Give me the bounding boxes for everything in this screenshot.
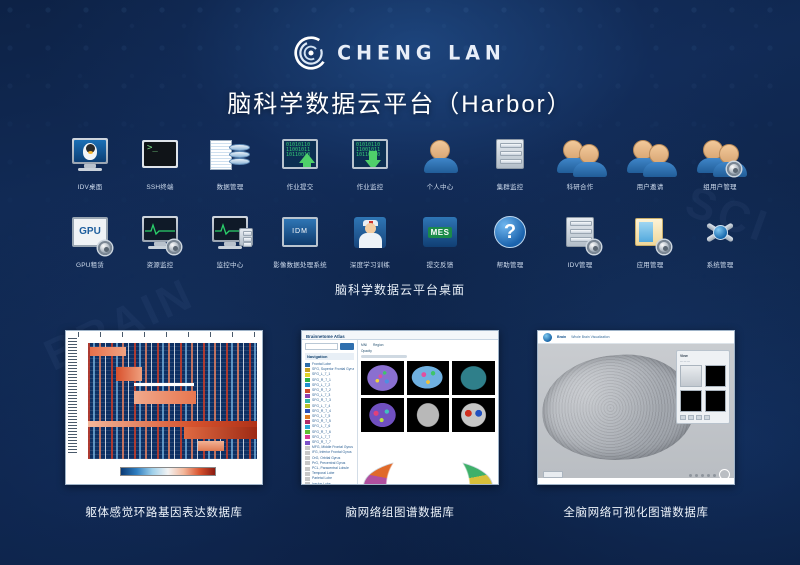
panel-caption: 全脑网络可视化图谱数据库	[537, 504, 735, 520]
desktop-icon-feedback[interactable]: MES 提交反馈	[405, 214, 475, 270]
desktop-icon-ssh-terminal[interactable]: >_ SSH终端	[125, 136, 195, 192]
atlas-app-title: Brainnetome Atlas	[302, 331, 498, 340]
icon-label: IDV管理	[568, 261, 593, 270]
server-gear-icon	[557, 214, 603, 256]
viewer-thumbnail-panel[interactable]: View — — —	[676, 350, 730, 424]
question-circle-icon: ?	[487, 214, 533, 256]
icon-label: 用户邀请	[637, 183, 664, 192]
panel-brainnetome-atlas[interactable]: Brainnetome Atlas Navigation Frontal Lob…	[301, 330, 499, 520]
tool-icon-3[interactable]	[696, 415, 702, 420]
desktop-icon-cluster-monitor[interactable]: 集群监控	[475, 136, 545, 192]
folder-gear-icon	[627, 214, 673, 256]
terminal-icon: >_	[137, 136, 183, 178]
viewer-panel-subrow: — — —	[680, 359, 726, 363]
spiral-c-logo-icon	[294, 36, 328, 70]
atlas-image-grid	[361, 361, 495, 432]
atlas-view-coronal[interactable]	[361, 361, 404, 395]
brand-logo: CHENG LAN	[0, 36, 800, 70]
tool-icon-4[interactable]	[704, 415, 710, 420]
panel-whole-brain-viewer[interactable]: Brain Whole Brain Visualization View — —…	[537, 330, 735, 520]
viewer-zoom-steps[interactable]	[689, 474, 716, 477]
desktop-icon-idv-desktop[interactable]: IDV桌面	[55, 136, 125, 192]
code-upload-icon: 010101101100101110110010	[277, 136, 323, 178]
icon-label: 科研合作	[567, 183, 594, 192]
viewer-footer	[538, 478, 734, 484]
icon-label: 提交反馈	[427, 261, 454, 270]
desktop-icon-system-management[interactable]: 系统管理	[685, 214, 755, 270]
icon-label: GPU租赁	[76, 261, 104, 270]
icon-row-1: IDV桌面 >_ SSH终端 数据管理 01010110110010111011…	[55, 136, 755, 192]
icon-label: 系统管理	[707, 261, 734, 270]
viewer-thumb-4[interactable]	[705, 390, 727, 412]
monitor-pulse-gear-icon	[137, 214, 183, 256]
atlas-region-tree[interactable]: Frontal Lobe SFG, Superior Frontal Gyrus…	[305, 362, 354, 485]
brand-name: CHENG LAN	[337, 41, 506, 64]
desktop-icon-app-management[interactable]: 应用管理	[615, 214, 685, 270]
icon-label: 帮助管理	[497, 261, 524, 270]
screenshot-atlas: Brainnetome Atlas Navigation Frontal Lob…	[301, 330, 499, 485]
database-panels: 躯体感觉环路基因表达数据库 Brainnetome Atlas Navigati…	[65, 330, 735, 520]
doctor-icon	[347, 214, 393, 256]
promo-page: BRAIN SCI CHENG LAN 脑科学数据云平台（Harbor） IDV…	[0, 0, 800, 565]
screenshot-viewer: Brain Whole Brain Visualization View — —…	[537, 330, 735, 485]
desktop-icon-personal-center[interactable]: 个人中心	[405, 136, 475, 192]
viewer-thumb-2[interactable]	[705, 365, 727, 387]
brain-slice-image	[539, 350, 698, 465]
page-title: 脑科学数据云平台（Harbor）	[0, 84, 800, 119]
icon-label: IDV桌面	[78, 183, 103, 192]
atlas-region-label: Region	[373, 343, 383, 347]
desktop-icon-grid: IDV桌面 >_ SSH终端 数据管理 01010110110010111011…	[55, 136, 755, 280]
atlas-opacity-slider[interactable]	[361, 355, 407, 358]
icon-label: 集群监控	[497, 183, 524, 192]
viewer-thumb-3[interactable]	[680, 390, 702, 412]
icon-label: 个人中心	[427, 183, 454, 192]
server-rack-icon	[487, 136, 533, 178]
monitor-linux-icon	[67, 136, 113, 178]
icon-label: 作业监控	[357, 183, 384, 192]
tool-icon-1[interactable]	[680, 415, 686, 420]
desktop-icon-idv-management[interactable]: IDV管理	[545, 214, 615, 270]
gpu-chip-icon: GPU	[67, 214, 113, 256]
atlas-main-view: MNI Region Opacity	[358, 340, 498, 484]
viewer-panel-title: View	[680, 354, 726, 358]
code-download-icon: 010101101100101110110010	[347, 136, 393, 178]
viewer-menu[interactable]: Whole Brain Visualization	[571, 335, 609, 339]
viewer-logo-icon	[543, 333, 552, 342]
atlas-view-anatomical-connectivity[interactable]	[452, 361, 495, 395]
panel-caption: 躯体感觉环路基因表达数据库	[65, 504, 263, 520]
atlas-view-axial[interactable]	[361, 398, 404, 432]
atlas-coord-label: MNI	[361, 343, 367, 347]
atlas-sidebar: Navigation Frontal Lobe SFG, Superior Fr…	[302, 340, 358, 484]
desktop-icon-data-management[interactable]: 数据管理	[195, 136, 265, 192]
viewer-toolbar: Brain Whole Brain Visualization	[538, 331, 734, 344]
tools-gear-icon	[697, 214, 743, 256]
atlas-view-sagittal[interactable]	[407, 361, 450, 395]
desktop-icon-monitor-center[interactable]: 监控中心	[195, 214, 265, 270]
panel-gene-expression[interactable]: 躯体感觉环路基因表达数据库	[65, 330, 263, 520]
atlas-view-grayscale[interactable]	[407, 398, 450, 432]
desktop-icon-gpu-rental[interactable]: GPU GPU租赁	[55, 214, 125, 270]
icon-label: 作业提交	[287, 183, 314, 192]
idm-box-icon: IDM	[277, 214, 323, 256]
screenshot-heatmap	[65, 330, 263, 485]
desktop-icon-job-submit[interactable]: 010101101100101110110010 作业提交	[265, 136, 335, 192]
icon-label: 深度学习训练	[350, 261, 390, 270]
icon-label: 组用户管理	[703, 183, 737, 192]
icon-label: SSH终端	[146, 183, 173, 192]
heatmap-colorbar	[120, 467, 216, 476]
atlas-opacity-label: Opacity	[361, 349, 495, 353]
desktop-icon-resource-monitor[interactable]: 资源监控	[125, 214, 195, 270]
tool-icon-2[interactable]	[688, 415, 694, 420]
icon-label: 影像数据处理系统	[273, 261, 327, 270]
desktop-icon-help-management[interactable]: ? 帮助管理	[475, 214, 545, 270]
icon-label: 应用管理	[637, 261, 664, 270]
icon-label: 资源监控	[147, 261, 174, 270]
icon-row-2: GPU GPU租赁 资源监控	[55, 214, 755, 270]
atlas-nav-title: Navigation	[305, 353, 354, 360]
desktop-caption: 脑科学数据云平台桌面	[0, 281, 800, 298]
desktop-icon-user-invite[interactable]: 用户邀请	[615, 136, 685, 192]
desktop-icon-group-user-management[interactable]: 组用户管理	[685, 136, 755, 192]
atlas-search-input[interactable]	[305, 343, 338, 350]
viewer-reset-button[interactable]	[543, 471, 563, 478]
desktop-icon-deep-learning[interactable]: 深度学习训练	[335, 214, 405, 270]
atlas-view-functional-connectivity[interactable]	[452, 398, 495, 432]
desktop-icon-imaging-system[interactable]: IDM 影像数据处理系统	[265, 214, 335, 270]
database-sheet-icon	[207, 136, 253, 178]
viewer-canvas[interactable]: View — — —	[538, 344, 734, 484]
list-item: Insular Lobe	[305, 482, 354, 485]
viewer-tool-buttons[interactable]	[680, 415, 726, 420]
icon-label: 数据管理	[217, 183, 244, 192]
users-group-icon	[627, 136, 673, 178]
user-avatar-icon	[417, 136, 463, 178]
icon-label: 监控中心	[217, 261, 244, 270]
desktop-icon-job-monitor[interactable]: 010101101100101110110010 作业监控	[335, 136, 405, 192]
desktop-icon-research-cooperation[interactable]: 科研合作	[545, 136, 615, 192]
two-users-icon	[557, 136, 603, 178]
viewer-brand: Brain	[557, 335, 566, 339]
atlas-search-button[interactable]	[340, 343, 354, 350]
monitor-pulse-server-icon	[207, 214, 253, 256]
panel-caption: 脑网络组图谱数据库	[301, 504, 499, 520]
viewer-thumb-1[interactable]	[680, 365, 702, 387]
users-gear-icon	[697, 136, 743, 178]
mes-icon: MES	[417, 214, 463, 256]
